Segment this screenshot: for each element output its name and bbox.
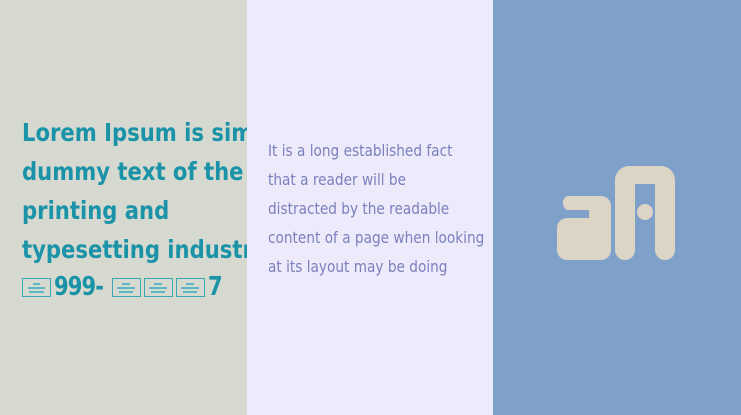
paragraph-sample-text: It is a long established fact that a rea… — [268, 136, 480, 281]
missing-glyph-box — [144, 278, 173, 297]
glyph-sample-row: 999- 7 — [22, 270, 226, 300]
specimen-panel — [493, 0, 741, 415]
hex-row — [29, 291, 44, 293]
heading-sample-text: Lorem Ipsum is simply dummy text of the … — [22, 113, 237, 269]
hex-row — [28, 287, 45, 289]
heading-line-3: printing and — [22, 191, 224, 230]
hex-row — [122, 283, 130, 285]
hex-row — [33, 283, 41, 285]
hex-row — [181, 287, 198, 289]
hex-row — [154, 283, 162, 285]
heading-line-4: typesetting industry. — [22, 230, 224, 269]
missing-glyph-box — [22, 278, 51, 297]
glyph-digits-999: 999- — [54, 274, 103, 300]
paragraph-line-4: content of a page when looking — [268, 223, 469, 252]
heading-line-2: dummy text of the — [22, 152, 224, 191]
counter-dot — [637, 204, 653, 220]
glyph-digit-7: 7 — [208, 274, 222, 300]
paragraph-panel: It is a long established fact that a rea… — [247, 0, 493, 415]
hex-row — [183, 291, 198, 293]
uppercase-a-glyph — [615, 166, 675, 260]
aa-specimen-glyphs — [555, 150, 685, 270]
missing-glyph-box — [112, 278, 141, 297]
font-specimen-page: Lorem Ipsum is simply dummy text of the … — [0, 0, 741, 415]
paragraph-line-2: that a reader will be — [268, 165, 469, 194]
heading-line-1: Lorem Ipsum is simply — [22, 113, 224, 152]
heading-panel: Lorem Ipsum is simply dummy text of the … — [0, 0, 247, 415]
hex-row — [149, 287, 166, 289]
paragraph-line-3: distracted by the readable — [268, 194, 469, 223]
missing-glyph-box — [176, 278, 205, 297]
hex-row — [151, 291, 166, 293]
paragraph-line-1: It is a long established fact — [268, 136, 469, 165]
paragraph-line-5: at its layout may be doing — [268, 252, 469, 281]
lowercase-a-glyph — [557, 196, 611, 260]
hex-row — [117, 287, 134, 289]
hex-row — [186, 283, 194, 285]
hex-row — [119, 291, 134, 293]
